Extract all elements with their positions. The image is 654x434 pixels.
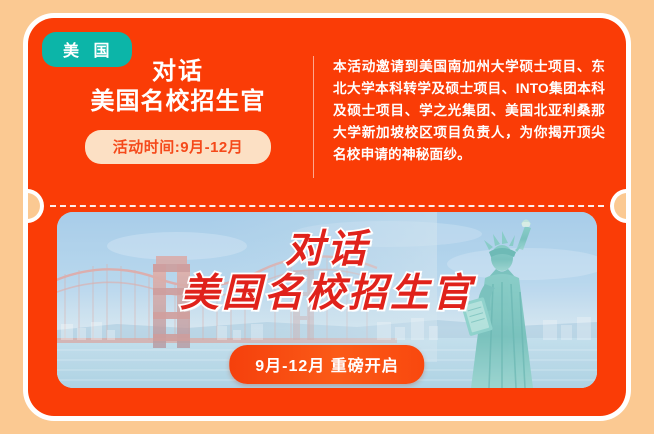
- ticket-notch-left: [28, 193, 40, 219]
- column-divider: [313, 56, 314, 178]
- promotion-ticket-card: 美 国 对话 美国名校招生官 活动时间:9月-12月 本活动邀请到美国南加州大学…: [28, 18, 626, 416]
- ticket-dashed-divider: [50, 205, 604, 207]
- ticket-notch-right: [614, 193, 626, 219]
- event-title-line1: 对话: [42, 58, 314, 86]
- banner-cta-pill[interactable]: 9月-12月 重磅开启: [229, 345, 424, 384]
- event-date-pill: 活动时间:9月-12月: [85, 130, 272, 164]
- card-upper-section: 美 国 对话 美国名校招生官 活动时间:9月-12月 本活动邀请到美国南加州大学…: [28, 18, 626, 193]
- event-description-column: 本活动邀请到美国南加州大学硕士项目、东北大学本科转学及硕士项目、INTO集团本科…: [333, 56, 605, 166]
- event-title-line2: 美国名校招生官: [42, 88, 314, 116]
- event-description-text: 本活动邀请到美国南加州大学硕士项目、东北大学本科转学及硕士项目、INTO集团本科…: [333, 56, 605, 166]
- promo-banner[interactable]: 对话 美国名校招生官 9月-12月 重磅开启: [57, 212, 597, 388]
- event-headline-column: 对话 美国名校招生官 活动时间:9月-12月: [42, 54, 314, 164]
